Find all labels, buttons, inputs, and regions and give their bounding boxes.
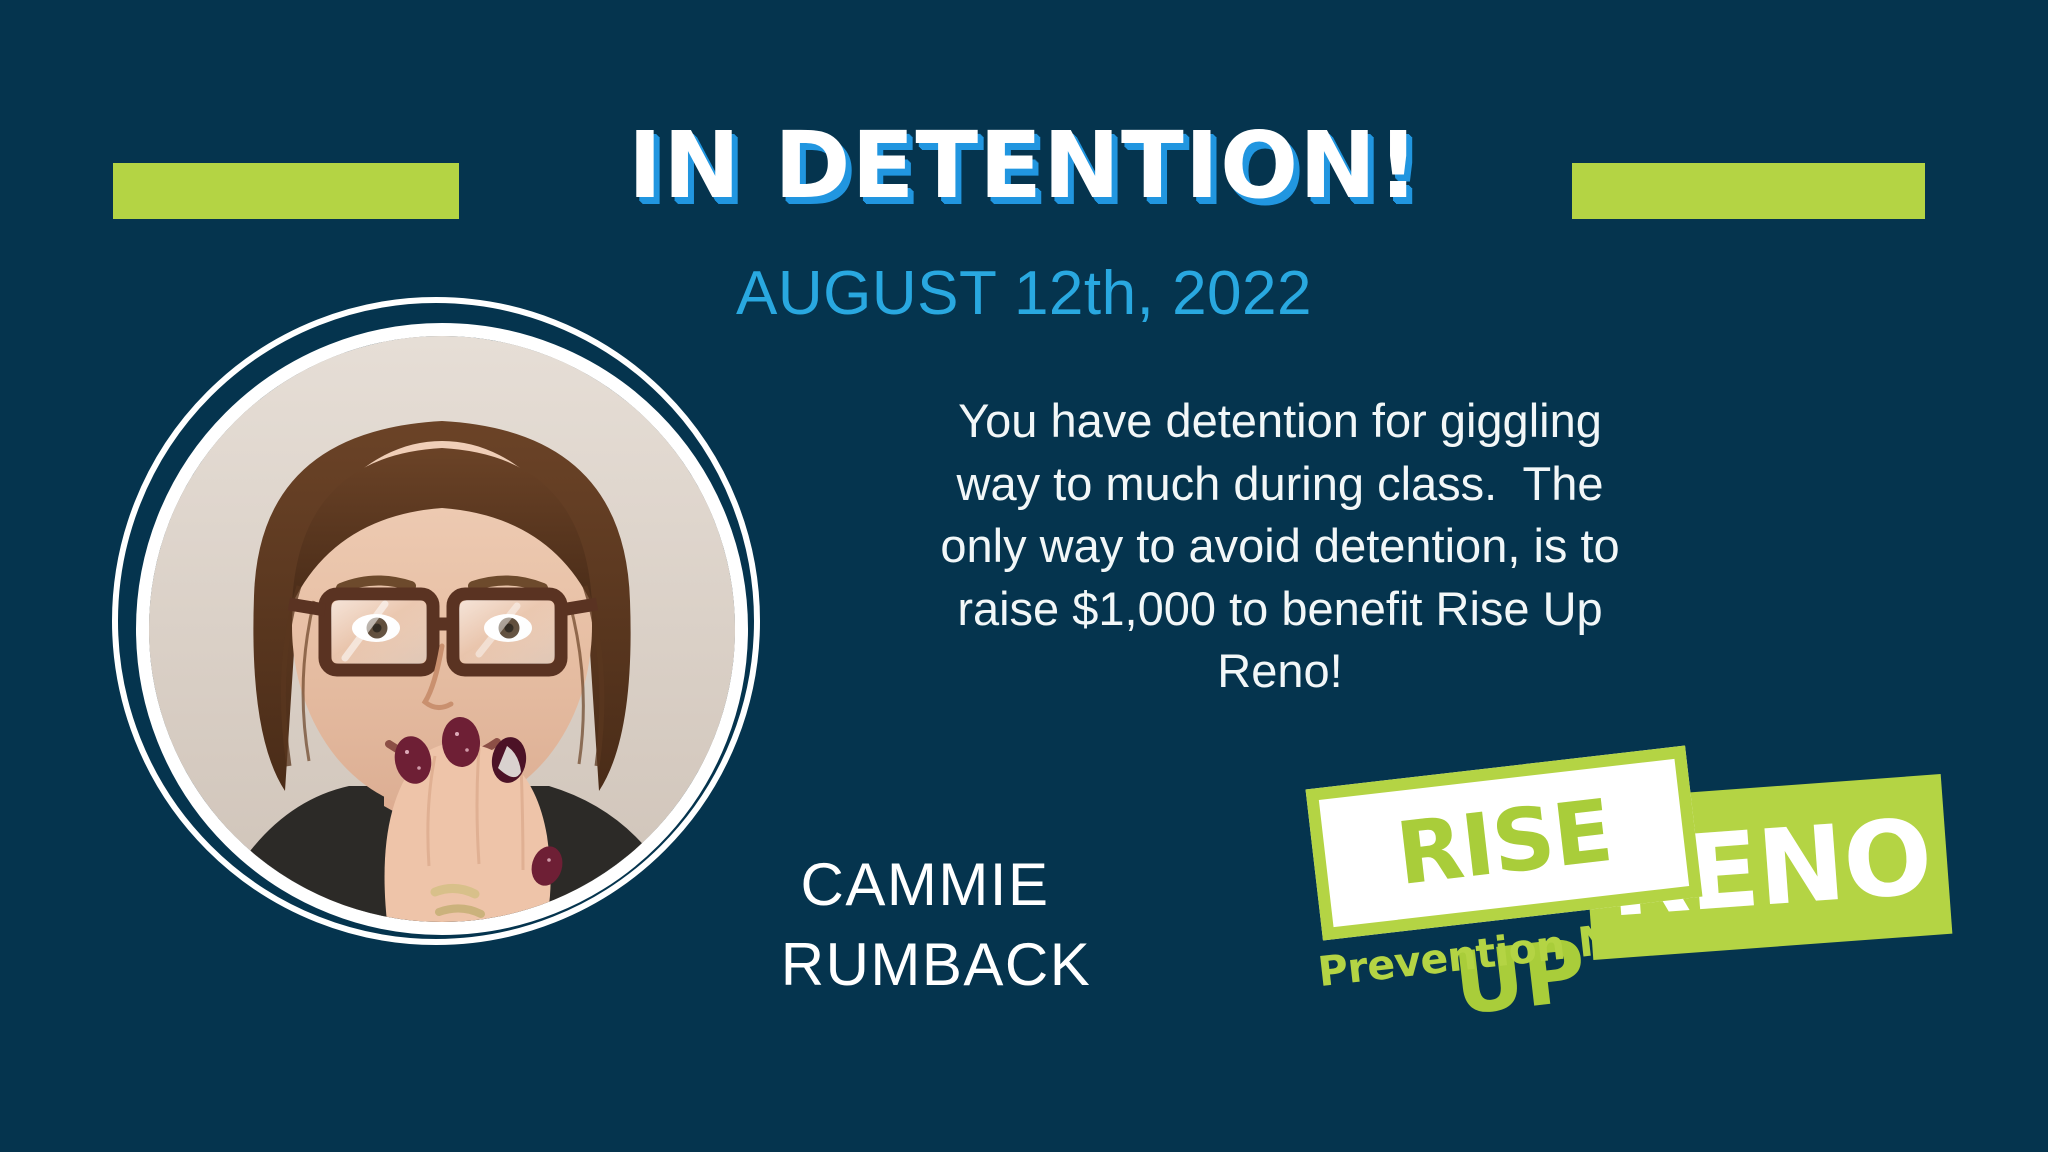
page-title: IN DETENTION! bbox=[628, 120, 1420, 212]
presenter-first-name: CAMMIE bbox=[620, 845, 1240, 925]
rise-up-reno-logo: RENO RISE UP Prevention Network bbox=[1295, 745, 1955, 1035]
presenter-name: CAMMIE RUMBACK bbox=[620, 845, 1240, 1005]
right-accent-bar bbox=[1572, 163, 1925, 219]
event-promo-poster: IN DETENTION! AUGUST 12th, 2022 You have… bbox=[0, 0, 2048, 1152]
presenter-last-name: RUMBACK bbox=[620, 925, 1240, 1005]
avatar-photo bbox=[149, 336, 735, 922]
body-copy: You have detention for giggling way to m… bbox=[930, 390, 1630, 703]
left-accent-bar bbox=[113, 163, 459, 219]
body-paragraph: You have detention for giggling way to m… bbox=[930, 390, 1630, 703]
